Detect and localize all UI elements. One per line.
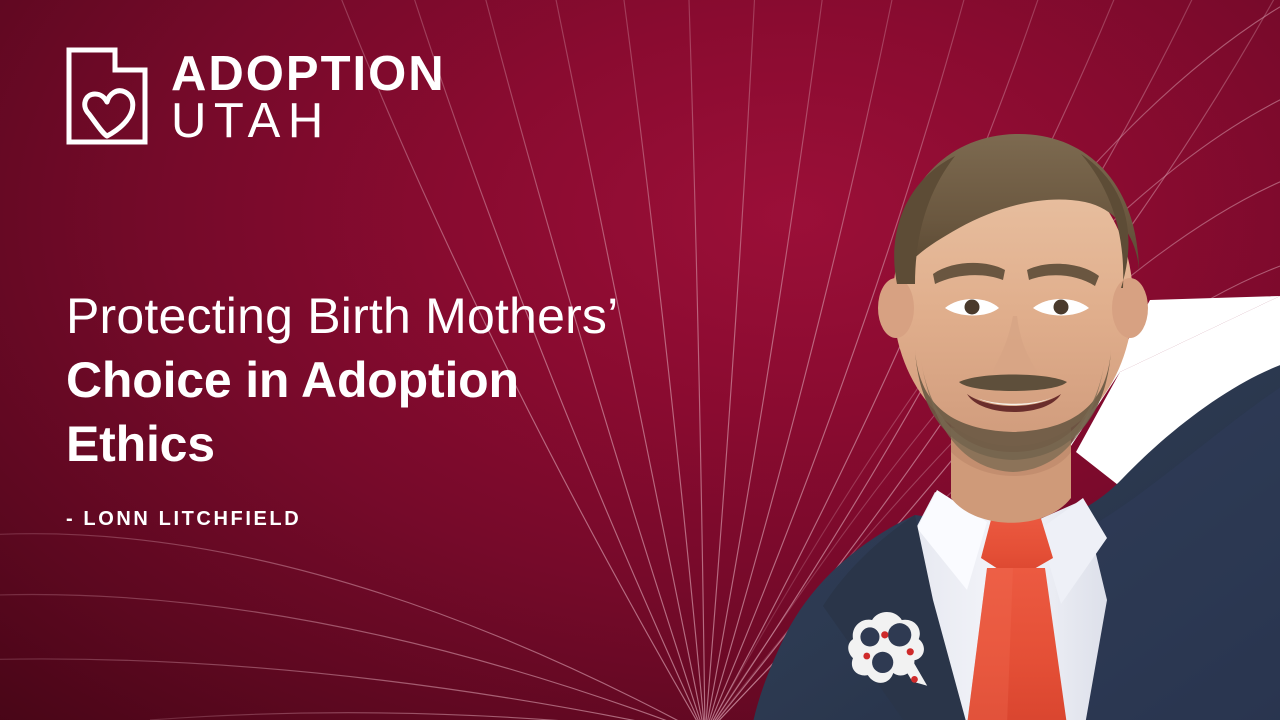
- headline-line-2: Choice in Adoption: [66, 348, 766, 412]
- promo-banner: ADOPTION UTAH Protecting Birth Mothers’ …: [0, 0, 1280, 720]
- brand-logo[interactable]: ADOPTION UTAH: [63, 44, 446, 148]
- speaker-byline: - LONN LITCHFIELD: [66, 508, 301, 531]
- brand-wordmark: ADOPTION UTAH: [171, 44, 446, 145]
- headline-line-3: Ethics: [66, 412, 766, 476]
- headline-line-1: Protecting Birth Mothers’: [66, 284, 766, 348]
- utah-outline-heart-icon: [63, 44, 155, 148]
- headline-block: Protecting Birth Mothers’ Choice in Adop…: [66, 284, 766, 476]
- brand-line-1: ADOPTION: [171, 52, 446, 97]
- brand-line-2: UTAH: [171, 97, 446, 145]
